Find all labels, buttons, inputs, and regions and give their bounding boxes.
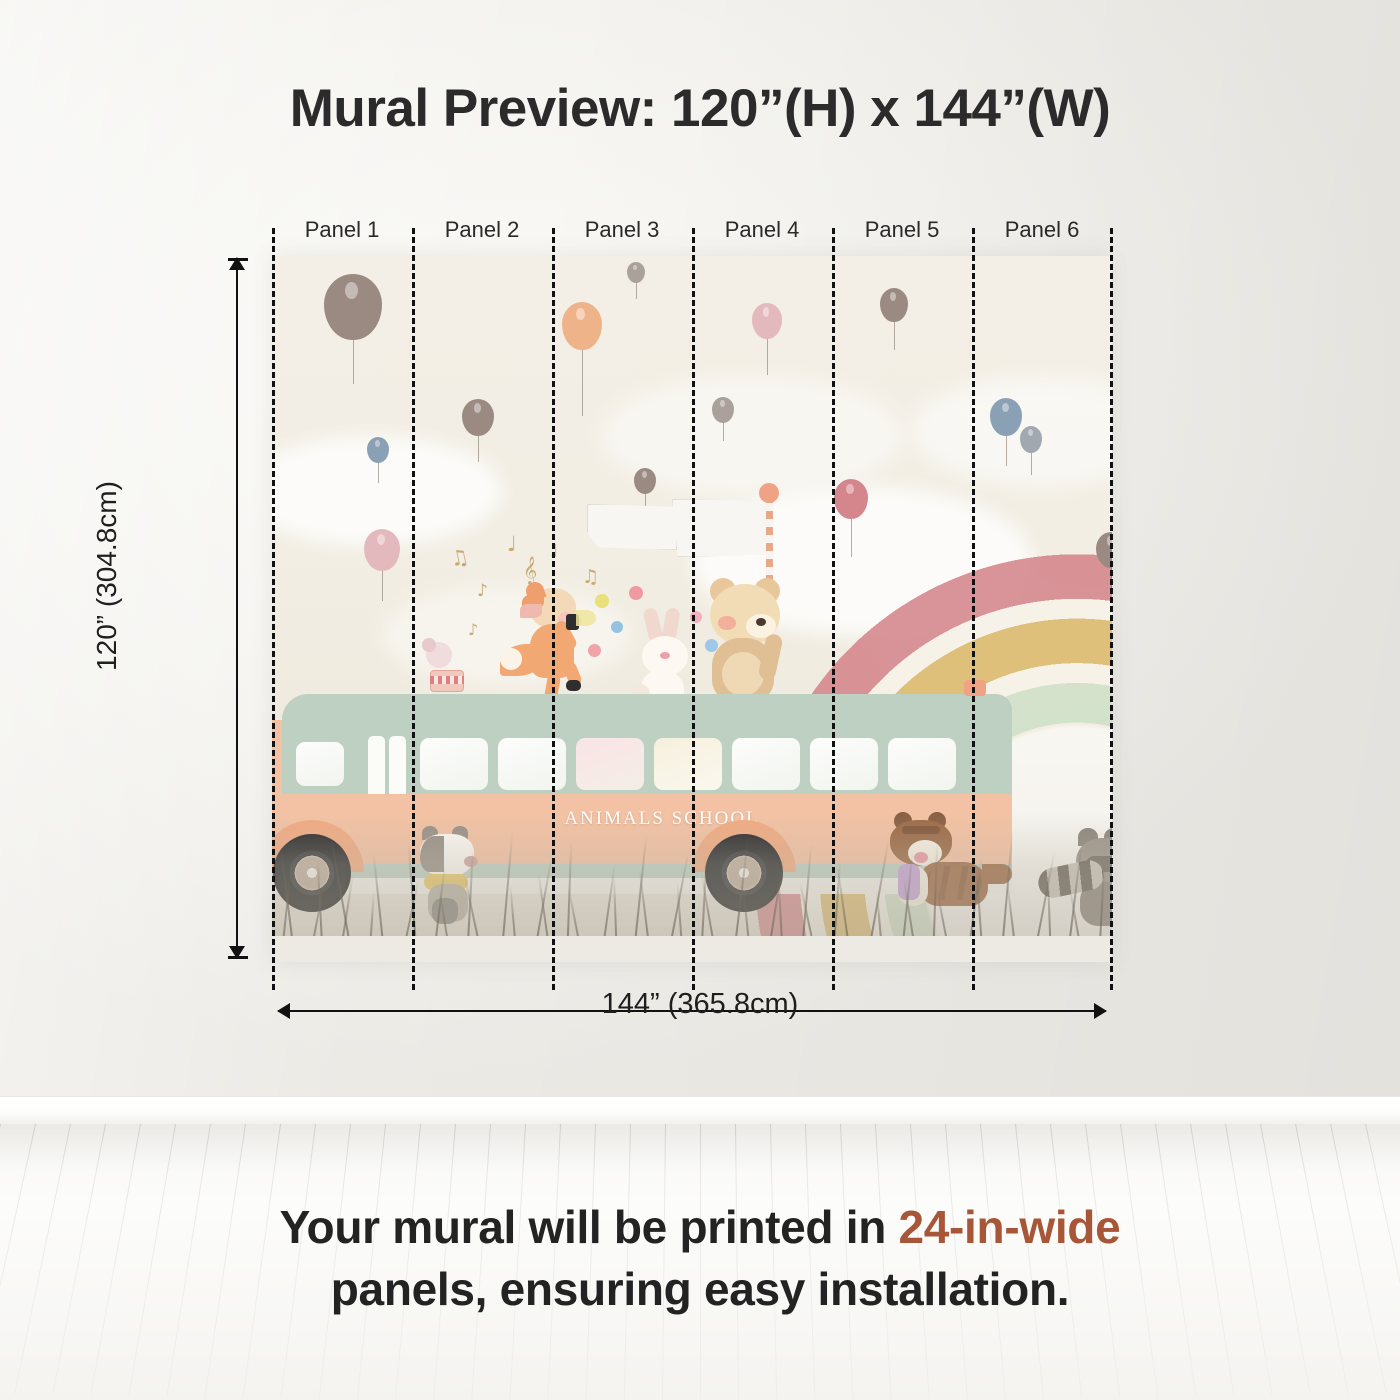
panel-label-2: Panel 2 — [412, 213, 552, 247]
balloon — [462, 399, 494, 436]
caption-line-1-prefix: Your mural will be printed in — [280, 1201, 899, 1253]
balloon — [712, 397, 734, 423]
caption: Your mural will be printed in 24-in-wide… — [0, 1196, 1400, 1320]
balloon — [834, 479, 868, 519]
music-note-icon: ♩ — [550, 541, 559, 562]
caption-line-1: Your mural will be printed in 24-in-wide — [0, 1196, 1400, 1258]
critter-fox — [500, 586, 590, 706]
panel-label-3: Panel 3 — [552, 213, 692, 247]
bubble — [595, 594, 609, 608]
mural-artwork: ♫ ♪ ♩ 𝄞 ♩ ♫ ♪ — [272, 256, 1112, 962]
bubble — [629, 586, 643, 600]
baseboard — [0, 1096, 1400, 1126]
bus-roof-light — [964, 680, 986, 696]
page-title: Mural Preview: 120”(H) x 144”(W) — [0, 78, 1400, 139]
panel-label-4: Panel 4 — [692, 213, 832, 247]
balloon — [752, 303, 782, 339]
music-note-icon: ♫ — [448, 544, 471, 571]
panel-label-1: Panel 1 — [272, 213, 412, 247]
bus-window — [732, 738, 800, 790]
balloon — [880, 288, 908, 322]
height-dimension-label: 120” (304.8cm) — [91, 416, 123, 736]
critter-mouse — [422, 636, 472, 696]
balloon — [1096, 532, 1112, 568]
bus-window — [810, 738, 878, 790]
bus-window — [576, 738, 644, 790]
bus-window — [654, 738, 722, 790]
balloon — [367, 437, 389, 463]
balloon — [324, 274, 382, 340]
balloon — [562, 302, 602, 350]
bus-window — [498, 738, 566, 790]
flag-banner — [672, 499, 770, 557]
flag-banner — [587, 504, 677, 550]
width-dimension-label: 144” (365.8cm) — [0, 988, 1400, 1021]
panel-label-row: Panel 1 Panel 2 Panel 3 Panel 4 Panel 5 … — [272, 213, 1112, 247]
balloon — [1020, 426, 1042, 453]
panel-label-5: Panel 5 — [832, 213, 972, 247]
caption-accent-text: 24-in-wide — [898, 1201, 1120, 1253]
balloon — [364, 529, 400, 571]
height-dimension-arrow — [236, 258, 238, 958]
music-note-icon: ♫ — [582, 566, 599, 588]
grass-foreground — [272, 812, 1112, 962]
balloon — [627, 262, 645, 283]
flag-knob-icon — [759, 483, 779, 503]
music-note-icon: ♩ — [507, 532, 517, 556]
caption-line-2: panels, ensuring easy installation. — [0, 1258, 1400, 1320]
bus-window — [296, 742, 344, 786]
balloon — [634, 468, 656, 494]
bus-window — [420, 738, 488, 790]
panel-label-6: Panel 6 — [972, 213, 1112, 247]
ground-strip — [272, 936, 1112, 962]
bubble — [611, 621, 623, 633]
balloon — [990, 398, 1022, 436]
music-note-icon: 𝄞 — [523, 556, 537, 584]
bus-window — [888, 738, 956, 790]
music-note-icon: ♪ — [477, 581, 488, 601]
